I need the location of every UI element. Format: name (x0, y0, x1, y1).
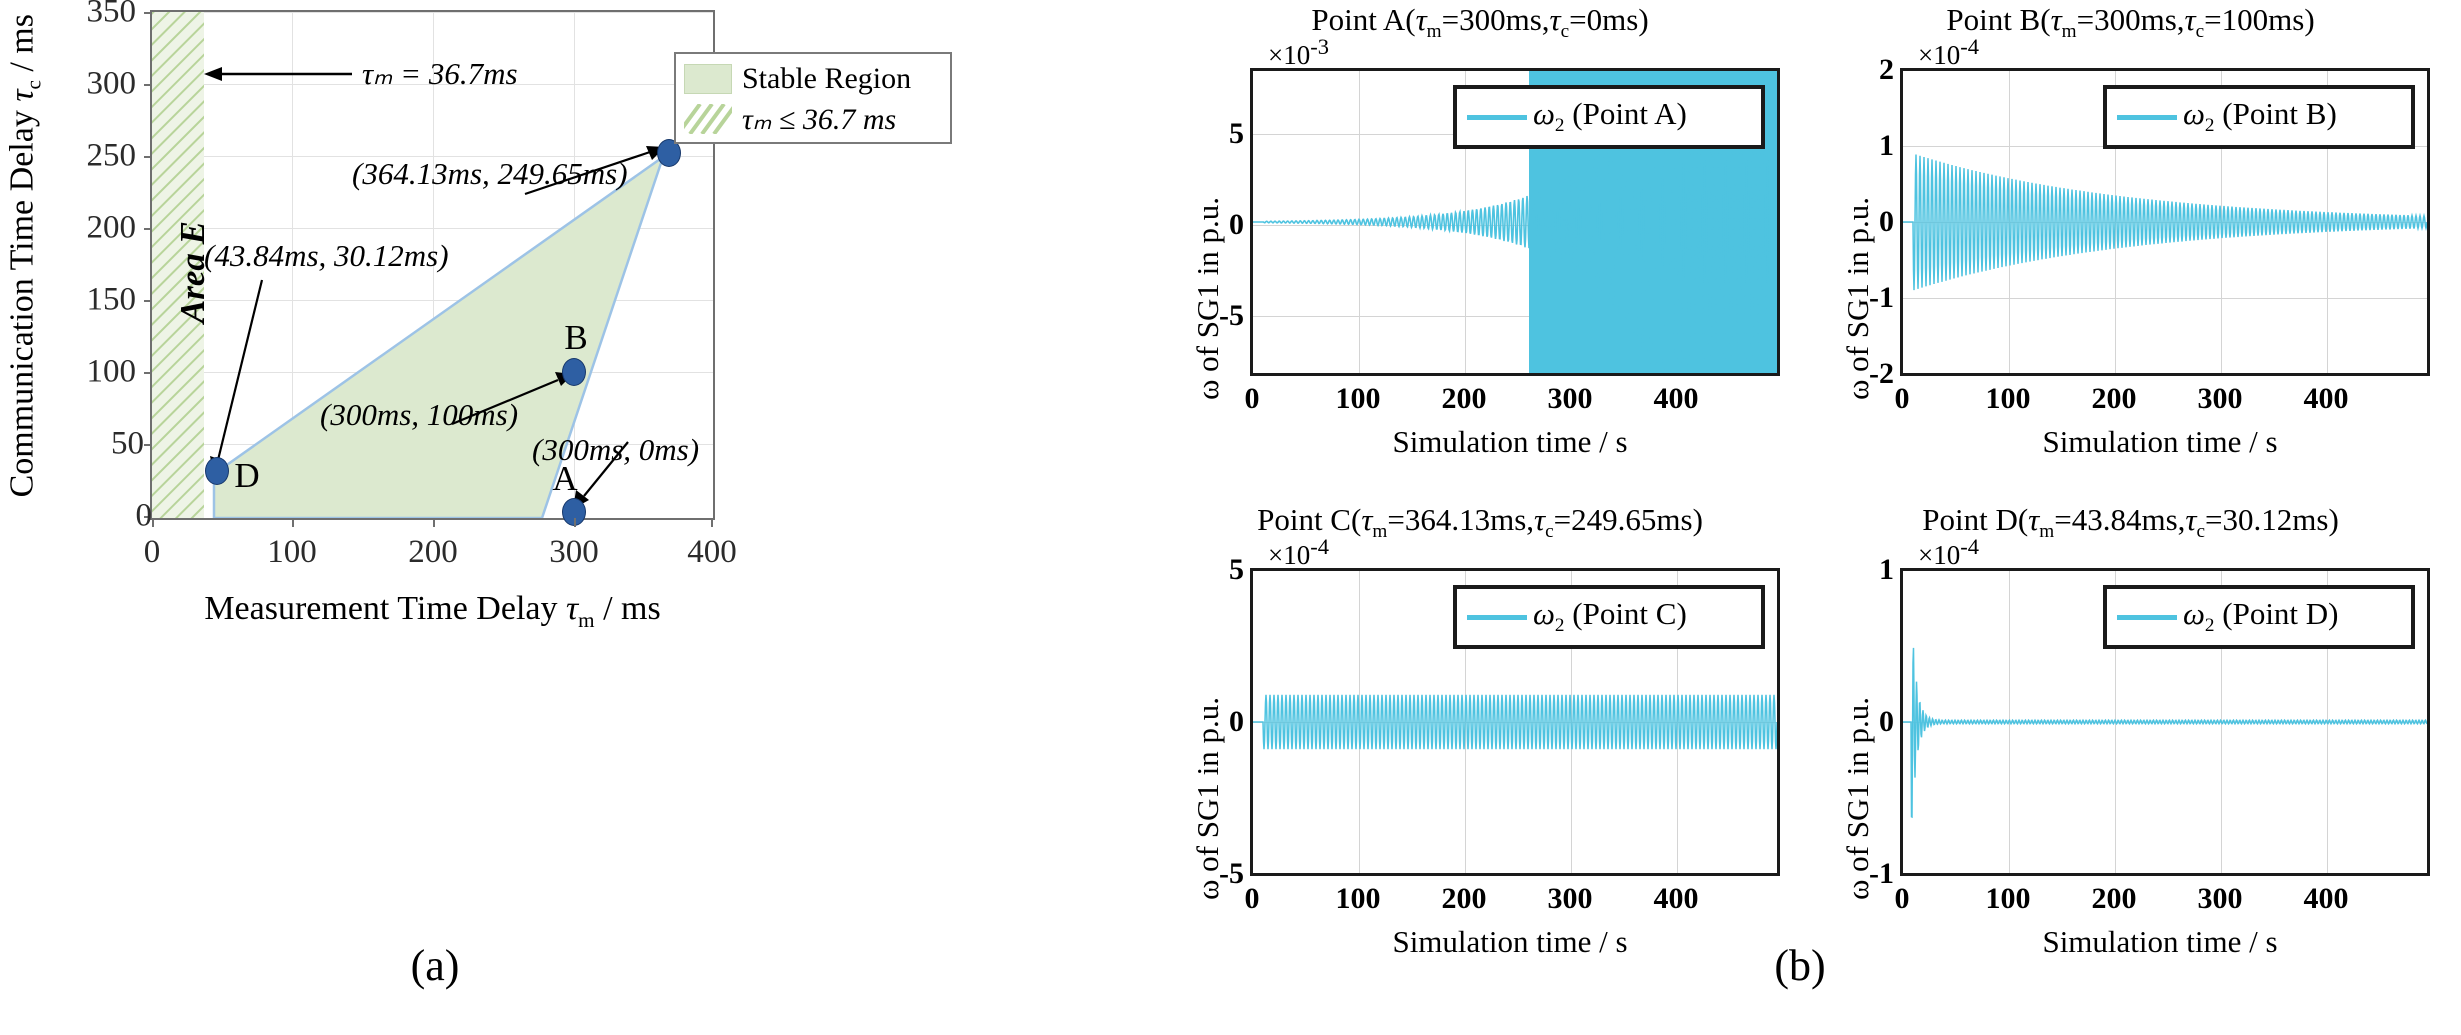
subplot-c-xtick-100: 100 (1313, 882, 1403, 916)
subplot-c-xtick-200: 200 (1419, 882, 1509, 916)
subplot-b-legend-label: ω2 (Point B) (2183, 96, 2337, 137)
leg-b-omega: ω (2183, 96, 2205, 131)
title-b-mid: =300ms, (2077, 2, 2185, 37)
ytick-label-300: 300 (78, 66, 136, 103)
ytick-mark-300 (144, 84, 152, 86)
subplot-c-legend-label: ω2 (Point C) (1533, 596, 1687, 637)
x-label-text: Measurement Time Delay (204, 590, 566, 627)
subplot-c-ytick-5: 5 (1192, 553, 1244, 587)
legend-swatch-hatched (684, 104, 732, 134)
subplot-point-b: Point B(τm=300ms,τc=100ms) ×10-4 ω of SG… (1800, 0, 2461, 500)
title-b-tau1: τ (2051, 2, 2062, 37)
ytick-label-150: 150 (78, 282, 136, 319)
subplot-b-exponent: ×10-4 (1918, 34, 1979, 71)
ytick-label-0: 0 (94, 498, 152, 535)
ytick-label-250: 250 (78, 138, 136, 175)
point-b-annotation: (300ms, 100ms) (320, 397, 518, 433)
subplot-c-legend: ω2 (Point C) (1453, 585, 1765, 649)
subplot-a-xlabel: Simulation time / s (1210, 424, 1810, 460)
subplot-point-d: Point D(τm=43.84ms,τc=30.12ms) ×10-4 ω o… (1800, 500, 2461, 1000)
subplot-b-ytick-2: 2 (1842, 53, 1894, 87)
subplot-c-xtick-300: 300 (1525, 882, 1615, 916)
xtick-mark-100 (292, 518, 294, 527)
title-d-mid: =43.84ms, (2054, 502, 2185, 537)
xtick-mark-400 (711, 518, 713, 527)
leg-a-post: (Point A) (1565, 96, 1687, 131)
panel-a-x-axis-label: Measurement Time Delay τm / ms (150, 590, 715, 633)
figure-caption-b: (b) (1700, 940, 1900, 991)
subplot-d-xtick-0: 0 (1857, 882, 1947, 916)
title-b-sub1: m (2062, 21, 2077, 42)
subplot-d-xtick-400: 400 (2281, 882, 2371, 916)
xtick-mark-0 (152, 518, 154, 527)
title-a-tau1: τ (1416, 2, 1427, 37)
leg-a-omega: ω (1533, 96, 1555, 131)
subplot-a-xtick-400: 400 (1631, 382, 1721, 416)
data-point-d[interactable] (205, 457, 229, 485)
subplot-b-xtick-0: 0 (1857, 382, 1947, 416)
subplot-d-frame: ω2 (Point D) (1900, 568, 2430, 876)
title-c-post: =249.65ms) (1554, 502, 1703, 537)
panel-a-plot-frame: Area E τₘ = 36.7ms (364.13ms, 249.65ms) … (150, 10, 715, 520)
leg-c-omega: ω (1533, 596, 1555, 631)
exp-a-power: -3 (1310, 34, 1329, 59)
point-d-annotation: (43.84ms, 30.12ms) (204, 238, 449, 274)
subplot-a-xtick-300: 300 (1525, 382, 1615, 416)
title-d-tau2: τ (2185, 502, 2196, 537)
title-d-sub2: c (2197, 521, 2206, 542)
subplot-a-legend: ω2 (Point A) (1453, 85, 1765, 149)
legend-label-stable-region: Stable Region (742, 62, 911, 96)
xtick-mark-200 (433, 518, 435, 527)
subplot-b-xtick-400: 400 (2281, 382, 2371, 416)
x-label-unit: / ms (595, 590, 661, 627)
leg-d-sub: 2 (2205, 616, 2215, 637)
subplot-a-xtick-0: 0 (1207, 382, 1297, 416)
title-c-sub1: m (1372, 521, 1387, 542)
subplot-b-xtick-100: 100 (1963, 382, 2053, 416)
subplot-b-frame: ω2 (Point B) (1900, 68, 2430, 376)
subplot-d-ytick-1: 1 (1842, 553, 1894, 587)
subplot-a-title: Point A(τm=300ms,τc=0ms) (1150, 2, 1810, 43)
subplot-d-legend: ω2 (Point D) (2103, 585, 2415, 649)
leg-d-post: (Point D) (2215, 596, 2339, 631)
title-a-tau2: τ (1550, 2, 1561, 37)
subplot-c-legend-line (1467, 615, 1527, 620)
xtick-label-0: 0 (107, 534, 197, 571)
title-c-tau2: τ (1534, 502, 1545, 537)
title-b-post: =100ms) (2204, 2, 2314, 37)
panel-a-y-axis-label: Communication Time Delay τc / ms (4, 17, 47, 497)
subplot-b-xtick-300: 300 (2175, 382, 2265, 416)
y-label-unit: / ms (4, 14, 41, 80)
subplot-a-xtick-200: 200 (1419, 382, 1509, 416)
subplot-a-legend-label: ω2 (Point A) (1533, 96, 1687, 137)
data-point-d-label: D (234, 456, 259, 496)
subplot-d-title: Point D(τm=43.84ms,τc=30.12ms) (1800, 502, 2461, 543)
x-label-tau: τ (566, 590, 578, 627)
subplot-c-exponent: ×10-4 (1268, 534, 1329, 571)
subplot-point-a: Point A(τm=300ms,τc=0ms) ×10-3 ω of SG1 … (1150, 0, 1810, 500)
title-d-tau1: τ (2028, 502, 2039, 537)
subplot-d-ytick-0: 0 (1842, 705, 1894, 739)
subplot-b-title: Point B(τm=300ms,τc=100ms) (1800, 2, 2461, 43)
exp-b-base: ×10 (1918, 40, 1960, 70)
xtick-label-200: 200 (388, 534, 478, 571)
ytick-label-200: 200 (78, 210, 136, 247)
subplot-b-ytick-m1: -1 (1842, 281, 1894, 315)
subplot-a-xtick-100: 100 (1313, 382, 1403, 416)
exp-c-power: -4 (1310, 534, 1329, 559)
subplot-point-c: Point C(τm=364.13ms,τc=249.65ms) ×10-4 ω… (1150, 500, 1810, 1000)
subplot-b-ytick-0: 0 (1842, 205, 1894, 239)
subplot-d-xtick-300: 300 (2175, 882, 2265, 916)
panel-a-legend: Stable Region τₘ ≤ 36.7 ms (674, 52, 952, 144)
ytick-mark-200 (144, 228, 152, 230)
title-a-sub1: m (1427, 21, 1442, 42)
subplot-d-legend-label: ω2 (Point D) (2183, 596, 2339, 637)
title-c-mid: =364.13ms, (1387, 502, 1534, 537)
leg-c-post: (Point C) (1565, 596, 1687, 631)
y-label-text: Communication Time Delay (4, 102, 41, 498)
ytick-mark-350 (144, 12, 152, 14)
ytick-mark-150 (144, 300, 152, 302)
subplot-a-ytick-m5: -5 (1192, 299, 1244, 333)
leg-a-sub: 2 (1555, 116, 1565, 137)
ytick-label-100: 100 (78, 354, 136, 391)
data-point-b[interactable] (562, 358, 586, 386)
xtick-label-400: 400 (667, 534, 757, 571)
subplot-d-xtick-100: 100 (1963, 882, 2053, 916)
ytick-mark-50 (144, 444, 152, 446)
subplot-d-xlabel: Simulation time / s (1860, 924, 2460, 960)
title-a-sub2: c (1561, 21, 1570, 42)
subplot-a-ytick-0: 0 (1192, 208, 1244, 242)
title-c-tau1: τ (1361, 502, 1372, 537)
stability-region-panel: Communication Time Delay τc / ms Measure… (0, 0, 1150, 1035)
subplot-c-ytick-0: 0 (1192, 705, 1244, 739)
ytick-label-350: 350 (78, 0, 136, 31)
subplot-a-exponent: ×10-3 (1268, 34, 1329, 71)
subplot-a-frame: ω2 (Point A) (1250, 68, 1780, 376)
ytick-mark-250 (144, 156, 152, 158)
subplot-c-xtick-400: 400 (1631, 882, 1721, 916)
title-c-pre: Point C( (1257, 502, 1361, 537)
subplot-d-xtick-200: 200 (2069, 882, 2159, 916)
exp-d-power: -4 (1960, 534, 1979, 559)
subplot-c-title: Point C(τm=364.13ms,τc=249.65ms) (1150, 502, 1810, 543)
title-b-pre: Point B( (1946, 2, 2050, 37)
subplot-c-frame: ω2 (Point C) (1250, 568, 1780, 876)
title-d-pre: Point D( (1922, 502, 2028, 537)
subplot-c-xtick-0: 0 (1207, 882, 1297, 916)
subplot-a-ytick-5: 5 (1192, 117, 1244, 151)
point-c-annotation: (364.13ms, 249.65ms) (352, 156, 628, 192)
exp-b-power: -4 (1960, 34, 1979, 59)
subplot-a-legend-line (1467, 115, 1527, 120)
title-d-post: =30.12ms) (2205, 502, 2339, 537)
exp-c-base: ×10 (1268, 540, 1310, 570)
xtick-label-100: 100 (247, 534, 337, 571)
threshold-annotation: τₘ = 36.7ms (362, 56, 518, 92)
title-b-sub2: c (2196, 21, 2205, 42)
title-a-pre: Point A( (1311, 2, 1415, 37)
leg-b-sub: 2 (2205, 116, 2215, 137)
ytick-mark-100 (144, 372, 152, 374)
subplot-b-ytick-1: 1 (1842, 129, 1894, 163)
leg-c-sub: 2 (1555, 616, 1565, 637)
ytick-label-50: 50 (86, 426, 144, 463)
x-label-subscript: m (578, 608, 594, 632)
subplot-d-legend-line (2117, 615, 2177, 620)
legend-swatch-stable-region (684, 64, 732, 94)
data-point-a-label: A (552, 459, 577, 499)
data-point-b-label: B (564, 318, 587, 358)
subplot-b-legend-line (2117, 115, 2177, 120)
subplot-b-xlabel: Simulation time / s (1860, 424, 2460, 460)
exp-a-base: ×10 (1268, 40, 1310, 70)
point-d-arrow-line (218, 280, 262, 460)
title-a-mid: =300ms, (1442, 2, 1550, 37)
legend-label-hatched: τₘ ≤ 36.7 ms (742, 102, 896, 137)
xtick-label-300: 300 (529, 534, 619, 571)
leg-d-omega: ω (2183, 596, 2205, 631)
subplot-d-exponent: ×10-4 (1918, 534, 1979, 571)
exp-d-base: ×10 (1918, 540, 1960, 570)
y-label-tau: τ (4, 90, 41, 102)
title-b-tau2: τ (2185, 2, 2196, 37)
subplot-b-xtick-200: 200 (2069, 382, 2159, 416)
xtick-mark-300 (574, 518, 576, 527)
leg-b-post: (Point B) (2215, 96, 2337, 131)
title-c-sub2: c (1545, 521, 1554, 542)
title-a-post: =0ms) (1569, 2, 1648, 37)
threshold-arrow-head (204, 67, 222, 81)
y-label-subscript: c (21, 80, 45, 89)
title-d-sub1: m (2039, 521, 2054, 542)
figure-caption-a: (a) (335, 940, 535, 991)
subplot-b-legend: ω2 (Point B) (2103, 85, 2415, 149)
